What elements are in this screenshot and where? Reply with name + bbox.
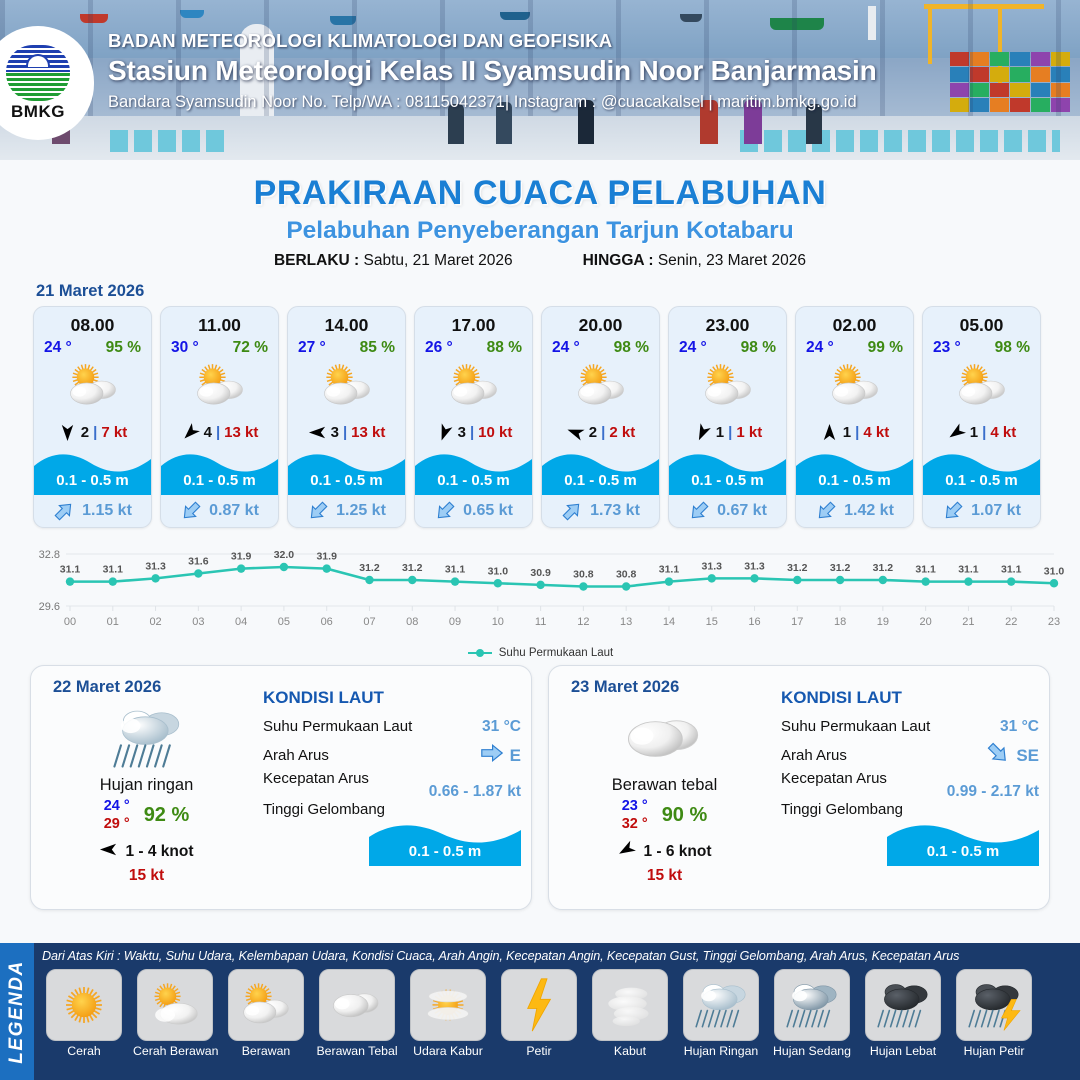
- svg-text:01: 01: [107, 616, 119, 628]
- sst-label: Suhu Permukaan Laut: [781, 718, 930, 735]
- card-gust: 13 kt: [224, 424, 258, 441]
- svg-text:30.8: 30.8: [573, 569, 594, 581]
- legend-item-label: Kabut: [588, 1044, 672, 1058]
- wind-direction-arrow-icon: [181, 423, 200, 442]
- card-humidity: 99 %: [868, 339, 903, 357]
- svg-text:31.1: 31.1: [659, 564, 680, 576]
- card-gust: 2 kt: [609, 424, 635, 441]
- valid-from: BERLAKU : Sabtu, 21 Maret 2026: [274, 252, 513, 270]
- legend-item: Hujan Petir: [952, 969, 1036, 1058]
- card-humidity: 98 %: [995, 339, 1030, 357]
- card-current-speed: 1.42 kt: [844, 502, 894, 520]
- card-wave: 0.1 - 0.5 m: [34, 449, 151, 495]
- valid-from-value: Sabtu, 21 Maret 2026: [364, 252, 513, 269]
- legend-sidebar-title: LEGENDA: [6, 960, 28, 1063]
- card-wind: 1 | 4 kt: [796, 415, 913, 449]
- berawan-icon: [669, 357, 786, 415]
- header-chairs-right: [740, 130, 1060, 152]
- svg-text:07: 07: [363, 616, 375, 628]
- svg-text:31.9: 31.9: [231, 551, 252, 563]
- svg-text:31.1: 31.1: [60, 564, 81, 576]
- valid-until-value: Senin, 23 Maret 2026: [658, 252, 806, 269]
- legend-item-label: Hujan Petir: [952, 1044, 1036, 1058]
- svg-text:06: 06: [321, 616, 333, 628]
- current-direction-label: Arah Arus: [781, 747, 847, 764]
- wind-direction-arrow-icon: [947, 423, 966, 442]
- card-temp-humidity: 24 ° 98 %: [669, 336, 786, 357]
- legend-item: Hujan Lebat: [861, 969, 945, 1058]
- wind-direction-arrow-icon: [693, 423, 712, 442]
- card-wind-speed: 1: [970, 424, 978, 441]
- svg-text:31.9: 31.9: [316, 551, 337, 563]
- svg-text:31.1: 31.1: [958, 564, 979, 576]
- legend-item-label: Hujan Sedang: [770, 1044, 854, 1058]
- daily-wind: 1 - 4 knot: [39, 840, 254, 864]
- daily-wind: 1 - 6 knot: [557, 840, 772, 864]
- sea-conditions-title: KONDISI LAUT: [263, 688, 521, 708]
- card-humidity: 98 %: [741, 339, 776, 357]
- berawan-icon: [161, 357, 278, 415]
- wave-height-value: 0.1 - 0.5 m: [887, 843, 1039, 860]
- current-speed-row: Kecepatan Arus 0.99 - 2.17 kt: [781, 770, 1039, 801]
- svg-text:12: 12: [577, 616, 589, 628]
- berawan-icon: [415, 357, 532, 415]
- berawan-icon: [923, 357, 1040, 415]
- daily-humidity: 90 %: [662, 804, 708, 827]
- current-direction-arrow-icon: [815, 500, 837, 522]
- daily-forecast-card[interactable]: 23 Maret 2026 Berawan tebal 23 ° 32 ° 90…: [548, 665, 1050, 910]
- card-temp-humidity: 27 ° 85 %: [288, 336, 405, 357]
- card-current: 1.42 kt: [796, 495, 913, 527]
- card-wave-height: 0.1 - 0.5 m: [796, 472, 913, 489]
- daily-date: 23 Maret 2026: [571, 678, 679, 697]
- card-wind-speed: 2: [81, 424, 89, 441]
- current-direction-arrow-icon: [53, 500, 75, 522]
- sea-conditions: KONDISI LAUT Suhu Permukaan Laut 31 °C A…: [781, 688, 1039, 866]
- legend-item: Hujan Ringan: [679, 969, 763, 1058]
- card-time: 14.00: [288, 307, 405, 336]
- current-direction-arrow-icon: [688, 500, 710, 522]
- hujan-ringan-icon: [683, 969, 759, 1041]
- legend-item-label: Cerah: [42, 1044, 126, 1058]
- card-current: 1.73 kt: [542, 495, 659, 527]
- current-direction-value: SE: [1016, 746, 1039, 766]
- svg-text:18: 18: [834, 616, 846, 628]
- legend-item-label: Hujan Ringan: [679, 1044, 763, 1058]
- card-wind: 2 | 7 kt: [34, 415, 151, 449]
- legend-item: Udara Kabur: [406, 969, 490, 1058]
- card-wind: 1 | 4 kt: [923, 415, 1040, 449]
- legend-note: Dari Atas Kiri : Waktu, Suhu Udara, Kele…: [42, 949, 1074, 963]
- daily-condition: Hujan ringan: [39, 776, 254, 795]
- sst-value: 31 °C: [1000, 718, 1039, 736]
- svg-text:16: 16: [748, 616, 760, 628]
- current-direction-arrow-icon: [434, 500, 456, 522]
- card-wind-speed: 2: [589, 424, 597, 441]
- svg-text:31.2: 31.2: [359, 562, 380, 574]
- legend-sidebar: LEGENDA: [0, 943, 34, 1080]
- svg-text:21: 21: [962, 616, 974, 628]
- card-humidity: 88 %: [487, 339, 522, 357]
- sst-chart: 32.829.600010203040506070809101112131415…: [8, 540, 1072, 645]
- svg-text:23: 23: [1048, 616, 1060, 628]
- card-temp-humidity: 24 ° 98 %: [542, 336, 659, 357]
- wind-direction-arrow-icon: [617, 840, 636, 864]
- card-current: 0.65 kt: [415, 495, 532, 527]
- hourly-card[interactable]: 11.00 30 ° 72 % 4 | 13 kt 0.1 - 0.5 m 0.: [160, 306, 279, 528]
- svg-text:31.2: 31.2: [787, 562, 808, 574]
- card-time: 17.00: [415, 307, 532, 336]
- card-temperature: 30 °: [171, 339, 199, 357]
- daily-wind-range: 1 - 6 knot: [643, 843, 711, 861]
- current-direction-arrow-icon: [307, 500, 329, 522]
- card-wave: 0.1 - 0.5 m: [796, 449, 913, 495]
- forecast-title-block: PRAKIRAAN CUACA PELABUHAN Pelabuhan Peny…: [0, 160, 1080, 270]
- sst-legend-label: Suhu Permukaan Laut: [499, 647, 613, 659]
- card-temp-humidity: 24 ° 99 %: [796, 336, 913, 357]
- card-current: 1.15 kt: [34, 495, 151, 527]
- wave-height-label: Tinggi Gelombang: [263, 801, 521, 818]
- card-wave-height: 0.1 - 0.5 m: [415, 472, 532, 489]
- card-wind-speed: 1: [843, 424, 851, 441]
- current-direction-arrow-icon: [480, 741, 504, 770]
- header-titles: BADAN METEOROLOGI KLIMATOLOGI DAN GEOFIS…: [108, 30, 877, 112]
- card-current-speed: 1.25 kt: [336, 502, 386, 520]
- current-direction-value: E: [510, 746, 521, 766]
- card-temperature: 24 °: [552, 339, 580, 357]
- hujan-petir-icon: [956, 969, 1032, 1041]
- daily-wind-range: 1 - 4 knot: [125, 843, 193, 861]
- wave-height-badge: 0.1 - 0.5 m: [887, 820, 1039, 866]
- card-wave-height: 0.1 - 0.5 m: [923, 472, 1040, 489]
- berawan-tebal-icon: [557, 702, 772, 774]
- sst-row: Suhu Permukaan Laut 31 °C: [781, 712, 1039, 741]
- card-wind-separator: |: [728, 424, 732, 441]
- daily-temp-min: 23 °: [622, 798, 648, 814]
- legend-item: Hujan Sedang: [770, 969, 854, 1058]
- svg-text:31.6: 31.6: [188, 556, 209, 568]
- daily-forecast-card[interactable]: 22 Maret 2026 Hujan ringan 24 ° 29 ° 92 …: [30, 665, 532, 910]
- card-gust: 4 kt: [863, 424, 889, 441]
- card-current-speed: 1.15 kt: [82, 502, 132, 520]
- current-direction-arrow-icon: [180, 500, 202, 522]
- hourly-card[interactable]: 17.00 26 ° 88 % 3 | 10 kt 0.1 - 0.5 m 0.: [414, 306, 533, 528]
- card-temp-humidity: 24 ° 95 %: [34, 336, 151, 357]
- daily-temp-humidity: 23 ° 32 ° 90 %: [557, 798, 772, 832]
- hourly-date-label: 21 Maret 2026: [36, 282, 1080, 301]
- card-wind-separator: |: [470, 424, 474, 441]
- daily-temp-max: 32 °: [622, 816, 648, 832]
- card-gust: 1 kt: [736, 424, 762, 441]
- card-humidity: 72 %: [233, 339, 268, 357]
- card-gust: 4 kt: [990, 424, 1016, 441]
- hourly-card[interactable]: 08.00 24 ° 95 % 2 | 7 kt 0.1 - 0.5 m 1.1: [33, 306, 152, 528]
- sea-conditions-title: KONDISI LAUT: [781, 688, 1039, 708]
- daily-summary: Berawan tebal 23 ° 32 ° 90 % 1 - 6 knot …: [557, 702, 772, 885]
- card-temperature: 26 °: [425, 339, 453, 357]
- card-wave: 0.1 - 0.5 m: [542, 449, 659, 495]
- sst-legend-marker: [467, 648, 493, 658]
- card-wind-speed: 1: [716, 424, 724, 441]
- svg-text:00: 00: [64, 616, 76, 628]
- card-temperature: 24 °: [679, 339, 707, 357]
- card-temp-humidity: 30 ° 72 %: [161, 336, 278, 357]
- svg-text:31.0: 31.0: [488, 565, 509, 577]
- svg-text:10: 10: [492, 616, 504, 628]
- svg-text:31.3: 31.3: [744, 560, 765, 572]
- wave-height-value: 0.1 - 0.5 m: [369, 843, 521, 860]
- hourly-card[interactable]: 20.00 24 ° 98 % 2 | 2 kt 0.1 - 0.5 m 1.7: [541, 306, 660, 528]
- wind-direction-arrow-icon: [566, 423, 585, 442]
- svg-text:22: 22: [1005, 616, 1017, 628]
- current-direction-row: Arah Arus SE: [781, 741, 1039, 770]
- header-chairs-left: [110, 130, 230, 152]
- berawan-tebal-icon: [319, 969, 395, 1041]
- hourly-card[interactable]: 02.00 24 ° 99 % 1 | 4 kt 0.1 - 0.5 m 1.4: [795, 306, 914, 528]
- card-wave-height: 0.1 - 0.5 m: [542, 472, 659, 489]
- daily-summary: Hujan ringan 24 ° 29 ° 92 % 1 - 4 knot 1…: [39, 702, 254, 885]
- card-gust: 7 kt: [101, 424, 127, 441]
- cerah-berawan-icon: [137, 969, 213, 1041]
- svg-text:30.9: 30.9: [530, 567, 551, 579]
- svg-text:31.3: 31.3: [145, 560, 166, 572]
- berawan-icon: [542, 357, 659, 415]
- card-current-speed: 1.73 kt: [590, 502, 640, 520]
- svg-text:31.2: 31.2: [402, 562, 423, 574]
- card-time: 20.00: [542, 307, 659, 336]
- card-temp-humidity: 26 ° 88 %: [415, 336, 532, 357]
- legend-item-label: Petir: [497, 1044, 581, 1058]
- svg-text:30.8: 30.8: [616, 569, 637, 581]
- svg-text:04: 04: [235, 616, 247, 628]
- svg-text:08: 08: [406, 616, 418, 628]
- current-direction-arrow-icon: [561, 500, 583, 522]
- daily-condition: Berawan tebal: [557, 776, 772, 795]
- card-current-speed: 1.07 kt: [971, 502, 1021, 520]
- svg-text:17: 17: [791, 616, 803, 628]
- card-time: 11.00: [161, 307, 278, 336]
- legend-items: Cerah Cerah Berawan Berawan Berawa: [42, 969, 1074, 1058]
- card-wind-separator: |: [216, 424, 220, 441]
- hujan-sedang-icon: [774, 969, 850, 1041]
- card-wind-speed: 3: [331, 424, 339, 441]
- hujan-lebat-icon: [865, 969, 941, 1041]
- legend-content: Dari Atas Kiri : Waktu, Suhu Udara, Kele…: [34, 943, 1080, 1080]
- svg-text:31.2: 31.2: [830, 562, 851, 574]
- card-wave: 0.1 - 0.5 m: [415, 449, 532, 495]
- port-name: Pelabuhan Penyeberangan Tarjun Kotabaru: [0, 217, 1080, 245]
- legend-footer: LEGENDA Dari Atas Kiri : Waktu, Suhu Uda…: [0, 943, 1080, 1080]
- sst-row: Suhu Permukaan Laut 31 °C: [263, 712, 521, 741]
- daily-humidity: 92 %: [144, 804, 190, 827]
- sst-value: 31 °C: [482, 718, 521, 736]
- svg-text:32.0: 32.0: [274, 549, 295, 561]
- svg-text:14: 14: [663, 616, 675, 628]
- daily-forecast-row: 22 Maret 2026 Hujan ringan 24 ° 29 ° 92 …: [0, 659, 1080, 910]
- sst-chart-legend: Suhu Permukaan Laut: [0, 647, 1080, 659]
- daily-gust: 15 kt: [557, 867, 772, 885]
- legend-item: Cerah: [42, 969, 126, 1058]
- wind-direction-arrow-icon: [99, 840, 118, 864]
- svg-text:31.0: 31.0: [1044, 565, 1065, 577]
- card-wave-height: 0.1 - 0.5 m: [34, 472, 151, 489]
- svg-text:29.6: 29.6: [39, 601, 60, 613]
- wave-height-row: Tinggi Gelombang 0.1 - 0.5 m: [781, 801, 1039, 866]
- legend-item-label: Berawan: [224, 1044, 308, 1058]
- card-humidity: 85 %: [360, 339, 395, 357]
- udara-kabur-icon: [410, 969, 486, 1041]
- wind-direction-arrow-icon: [308, 423, 327, 442]
- svg-text:19: 19: [877, 616, 889, 628]
- wind-direction-arrow-icon: [820, 423, 839, 442]
- wave-height-badge: 0.1 - 0.5 m: [369, 820, 521, 866]
- current-direction-arrow-icon: [986, 741, 1010, 770]
- current-direction-label: Arah Arus: [263, 747, 329, 764]
- svg-text:15: 15: [706, 616, 718, 628]
- svg-text:20: 20: [920, 616, 932, 628]
- berawan-icon: [288, 357, 405, 415]
- bmkg-logo-text: BMKG: [11, 102, 65, 122]
- card-time: 23.00: [669, 307, 786, 336]
- valid-from-label: BERLAKU :: [274, 252, 359, 269]
- validity-period: BERLAKU : Sabtu, 21 Maret 2026 HINGGA : …: [0, 252, 1080, 270]
- svg-text:32.8: 32.8: [39, 549, 60, 561]
- legend-item-label: Cerah Berawan: [133, 1044, 217, 1058]
- card-wave: 0.1 - 0.5 m: [288, 449, 405, 495]
- card-wave: 0.1 - 0.5 m: [161, 449, 278, 495]
- current-direction-arrow-icon: [942, 500, 964, 522]
- daily-temp-max: 29 °: [104, 816, 130, 832]
- card-wind-separator: |: [855, 424, 859, 441]
- svg-text:09: 09: [449, 616, 461, 628]
- card-wave-height: 0.1 - 0.5 m: [161, 472, 278, 489]
- card-wind: 1 | 1 kt: [669, 415, 786, 449]
- petir-icon: [501, 969, 577, 1041]
- card-wind-separator: |: [601, 424, 605, 441]
- svg-text:02: 02: [149, 616, 161, 628]
- card-wind: 3 | 10 kt: [415, 415, 532, 449]
- card-time: 08.00: [34, 307, 151, 336]
- wave-height-row: Tinggi Gelombang 0.1 - 0.5 m: [263, 801, 521, 866]
- berawan-icon: [796, 357, 913, 415]
- svg-text:31.3: 31.3: [702, 560, 723, 572]
- card-current: 1.07 kt: [923, 495, 1040, 527]
- card-wind-separator: |: [982, 424, 986, 441]
- card-temperature: 27 °: [298, 339, 326, 357]
- sst-chart-svg: 32.829.600010203040506070809101112131415…: [8, 540, 1072, 640]
- legend-item: Berawan Tebal: [315, 969, 399, 1058]
- svg-text:11: 11: [535, 616, 546, 628]
- agency-name: BADAN METEOROLOGI KLIMATOLOGI DAN GEOFIS…: [108, 30, 877, 52]
- legend-item-label: Hujan Lebat: [861, 1044, 945, 1058]
- card-wind: 4 | 13 kt: [161, 415, 278, 449]
- svg-text:31.1: 31.1: [915, 564, 936, 576]
- card-wave-height: 0.1 - 0.5 m: [669, 472, 786, 489]
- wind-direction-arrow-icon: [435, 423, 454, 442]
- card-current: 0.67 kt: [669, 495, 786, 527]
- daily-date: 22 Maret 2026: [53, 678, 161, 697]
- card-temperature: 24 °: [806, 339, 834, 357]
- legend-item-label: Berawan Tebal: [315, 1044, 399, 1058]
- contact-info: Bandara Syamsudin Noor No. Telp/WA : 081…: [108, 93, 877, 112]
- daily-temp-min: 24 °: [104, 798, 130, 814]
- svg-text:31.2: 31.2: [873, 562, 894, 574]
- card-wind: 2 | 2 kt: [542, 415, 659, 449]
- svg-text:31.1: 31.1: [445, 564, 466, 576]
- hourly-card[interactable]: 14.00 27 ° 85 % 3 | 13 kt 0.1 - 0.5 m 1.: [287, 306, 406, 528]
- hourly-card[interactable]: 23.00 24 ° 98 % 1 | 1 kt 0.1 - 0.5 m 0.6: [668, 306, 787, 528]
- card-current-speed: 0.67 kt: [717, 502, 767, 520]
- card-temperature: 23 °: [933, 339, 961, 357]
- legend-item-label: Udara Kabur: [406, 1044, 490, 1058]
- card-temp-humidity: 23 ° 98 %: [923, 336, 1040, 357]
- svg-text:03: 03: [192, 616, 204, 628]
- card-temperature: 24 °: [44, 339, 72, 357]
- sea-conditions: KONDISI LAUT Suhu Permukaan Laut 31 °C A…: [263, 688, 521, 866]
- card-wind-separator: |: [343, 424, 347, 441]
- card-wind: 3 | 13 kt: [288, 415, 405, 449]
- card-wave: 0.1 - 0.5 m: [669, 449, 786, 495]
- page-header: BMKG BADAN METEOROLOGI KLIMATOLOGI DAN G…: [0, 0, 1080, 160]
- hourly-card[interactable]: 05.00 23 ° 98 % 1 | 4 kt 0.1 - 0.5 m 1.0: [922, 306, 1041, 528]
- card-wind-separator: |: [93, 424, 97, 441]
- svg-text:31.1: 31.1: [103, 564, 124, 576]
- daily-temp-humidity: 24 ° 29 ° 92 %: [39, 798, 254, 832]
- current-direction-row: Arah Arus E: [263, 741, 521, 770]
- hourly-forecast-row: 08.00 24 ° 95 % 2 | 7 kt 0.1 - 0.5 m 1.1: [0, 306, 1080, 528]
- station-name: Stasiun Meteorologi Kelas II Syamsudin N…: [108, 55, 877, 87]
- card-current: 1.25 kt: [288, 495, 405, 527]
- card-current: 0.87 kt: [161, 495, 278, 527]
- svg-text:13: 13: [620, 616, 632, 628]
- card-current-speed: 0.65 kt: [463, 502, 513, 520]
- svg-text:05: 05: [278, 616, 290, 628]
- wave-height-label: Tinggi Gelombang: [781, 801, 1039, 818]
- wind-direction-arrow-icon: [58, 423, 77, 442]
- svg-text:31.1: 31.1: [1001, 564, 1022, 576]
- berawan-icon: [228, 969, 304, 1041]
- kabut-icon: [592, 969, 668, 1041]
- valid-until-label: HINGGA :: [583, 252, 654, 269]
- card-time: 05.00: [923, 307, 1040, 336]
- card-wind-speed: 3: [458, 424, 466, 441]
- cerah-icon: [46, 969, 122, 1041]
- card-gust: 13 kt: [351, 424, 385, 441]
- legend-item: Cerah Berawan: [133, 969, 217, 1058]
- valid-until: HINGGA : Senin, 23 Maret 2026: [583, 252, 806, 270]
- legend-item: Petir: [497, 969, 581, 1058]
- card-wave: 0.1 - 0.5 m: [923, 449, 1040, 495]
- current-speed-row: Kecepatan Arus 0.66 - 1.87 kt: [263, 770, 521, 801]
- legend-item: Kabut: [588, 969, 672, 1058]
- bmkg-logo-mark: [4, 45, 72, 101]
- card-current-speed: 0.87 kt: [209, 502, 259, 520]
- card-time: 02.00: [796, 307, 913, 336]
- hujan-ringan-icon: [39, 702, 254, 774]
- card-gust: 10 kt: [478, 424, 512, 441]
- sst-label: Suhu Permukaan Laut: [263, 718, 412, 735]
- legend-item: Berawan: [224, 969, 308, 1058]
- card-wave-height: 0.1 - 0.5 m: [288, 472, 405, 489]
- card-wind-speed: 4: [204, 424, 212, 441]
- berawan-icon: [34, 357, 151, 415]
- card-humidity: 98 %: [614, 339, 649, 357]
- card-humidity: 95 %: [106, 339, 141, 357]
- page-title: PRAKIRAAN CUACA PELABUHAN: [0, 174, 1080, 213]
- daily-gust: 15 kt: [39, 867, 254, 885]
